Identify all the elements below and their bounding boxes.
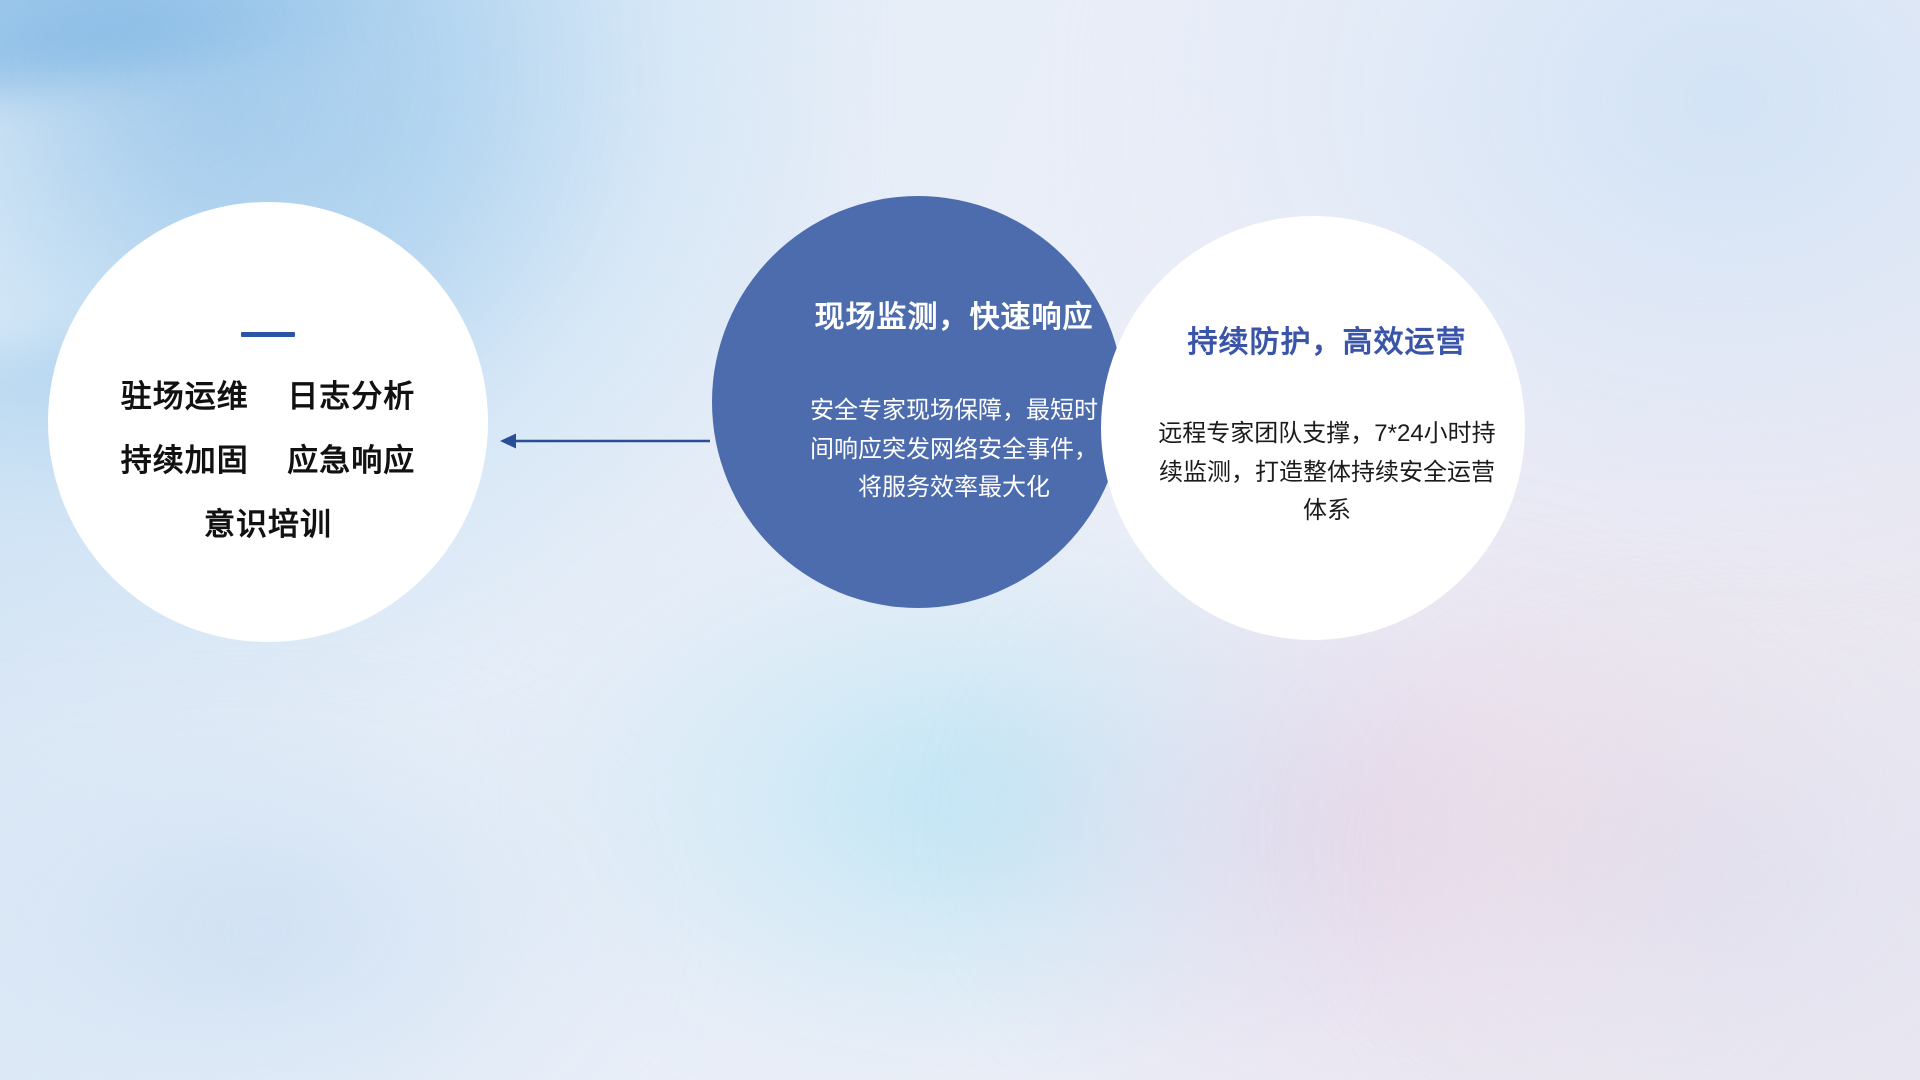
capability-circle-right: 持续防护，高效运营 远程专家团队支撑，7*24小时持续监测，打造整体持续安全运营…	[1101, 216, 1525, 640]
left-keyword-line-1: 驻场运维 日志分析	[48, 381, 488, 412]
right-circle-body: 远程专家团队支撑，7*24小时持续监测，打造整体持续安全运营体系	[1157, 415, 1497, 532]
capability-circle-left: 驻场运维 日志分析 持续加固 应急响应 意识培训	[48, 202, 488, 642]
capability-circle-middle: 现场监测，快速响应 安全专家现场保障，最短时间响应突发网络安全事件，将服务效率最…	[712, 196, 1124, 608]
right-circle-content: 持续防护，高效运营 远程专家团队支撑，7*24小时持续监测，打造整体持续安全运营…	[1115, 317, 1539, 532]
left-circle-content: 驻场运维 日志分析 持续加固 应急响应 意识培训	[48, 332, 488, 540]
left-keyword-line-3: 意识培训	[48, 509, 488, 540]
arrow-left-icon	[492, 418, 712, 464]
middle-circle-content: 现场监测，快速响应 安全专家现场保障，最短时间响应突发网络安全事件，将服务效率最…	[748, 292, 1160, 509]
accent-dash-divider	[241, 332, 295, 337]
right-circle-title: 持续防护，高效运营	[1115, 317, 1539, 361]
background-glow-bottom-left	[0, 700, 640, 1080]
slide-canvas: 驻场运维 日志分析 持续加固 应急响应 意识培训 现场监测，快速响应 安全专家现…	[0, 0, 1920, 1080]
middle-circle-title: 现场监测，快速响应	[748, 292, 1160, 336]
middle-circle-body: 安全专家现场保障，最短时间响应突发网络安全事件，将服务效率最大化	[809, 392, 1099, 509]
background-glow-bottom-right	[1400, 620, 1920, 1080]
left-keyword-line-2: 持续加固 应急响应	[48, 445, 488, 476]
